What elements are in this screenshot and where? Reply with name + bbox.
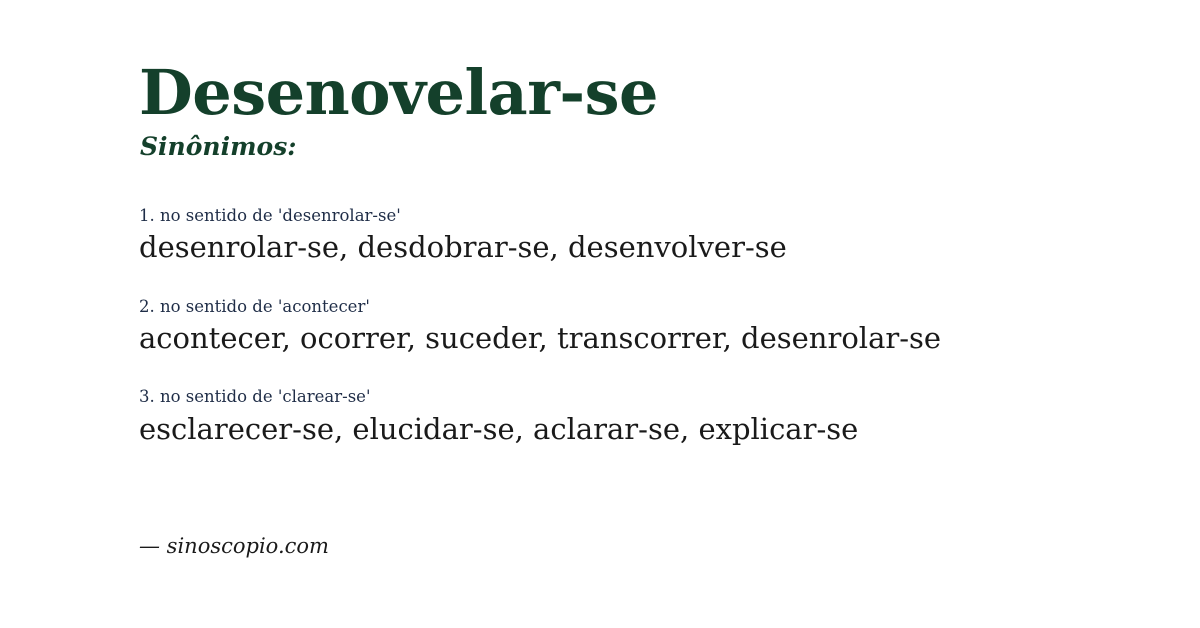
- synonyms-subtitle: Sinônimos:: [140, 133, 297, 161]
- synonym-card: Desenovelar-se Sinônimos: 1. no sentido …: [0, 0, 1200, 628]
- source-attribution: — sinoscopio.com: [139, 534, 329, 559]
- page-title: Desenovelar-se: [139, 62, 658, 124]
- sense-list: 1. no sentido de 'desenrolar-se' desenro…: [139, 205, 1139, 447]
- sense-synonyms: acontecer, ocorrer, suceder, transcorrer…: [139, 321, 1139, 356]
- sense-synonyms: esclarecer-se, elucidar-se, aclarar-se, …: [139, 412, 1139, 447]
- sense-label: 1. no sentido de 'desenrolar-se': [139, 205, 1139, 227]
- sense-group: 1. no sentido de 'desenrolar-se' desenro…: [139, 205, 1139, 266]
- sense-label: 2. no sentido de 'acontecer': [139, 296, 1139, 318]
- sense-synonyms: desenrolar-se, desdobrar-se, desenvolver…: [139, 230, 1139, 265]
- sense-group: 2. no sentido de 'acontecer' acontecer, …: [139, 296, 1139, 357]
- sense-group: 3. no sentido de 'clarear-se' esclarecer…: [139, 386, 1139, 447]
- sense-label: 3. no sentido de 'clarear-se': [139, 386, 1139, 408]
